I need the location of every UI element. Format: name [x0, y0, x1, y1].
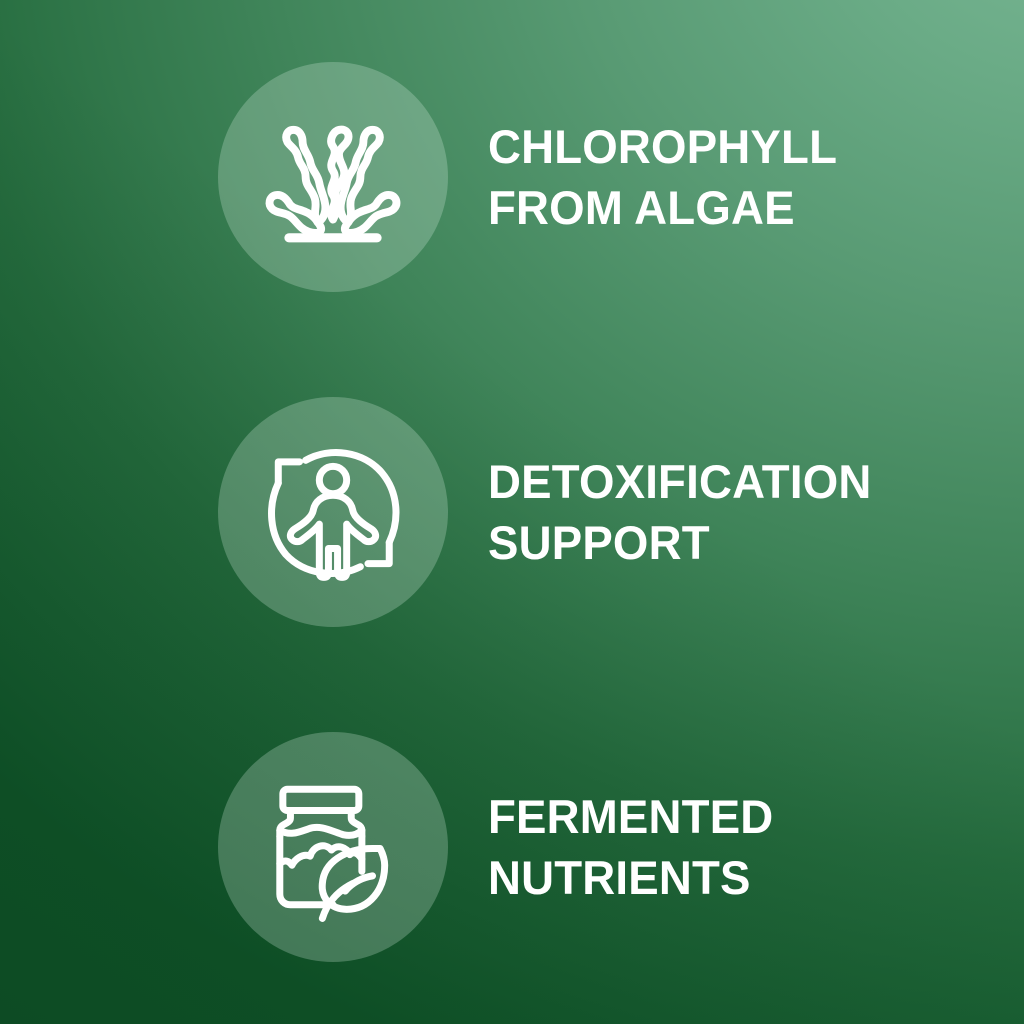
detox-person-cycle-icon [257, 436, 409, 588]
icon-badge-detoxification [218, 397, 448, 627]
benefits-poster: CHLOROPHYLL FROM ALGAE DETOXIFICATION SU… [0, 0, 1024, 1024]
feature-label-detoxification: DETOXIFICATION SUPPORT [488, 451, 871, 573]
feature-row: DETOXIFICATION SUPPORT [0, 392, 1024, 632]
feature-row: FERMENTED NUTRIENTS [0, 727, 1024, 967]
fermentation-jar-leaf-icon [257, 771, 409, 923]
icon-badge-fermented [218, 732, 448, 962]
icon-badge-chlorophyll [218, 62, 448, 292]
feature-label-chlorophyll: CHLOROPHYLL FROM ALGAE [488, 116, 837, 238]
seaweed-algae-icon [257, 101, 409, 253]
feature-label-fermented: FERMENTED NUTRIENTS [488, 786, 773, 908]
feature-row: CHLOROPHYLL FROM ALGAE [0, 57, 1024, 297]
